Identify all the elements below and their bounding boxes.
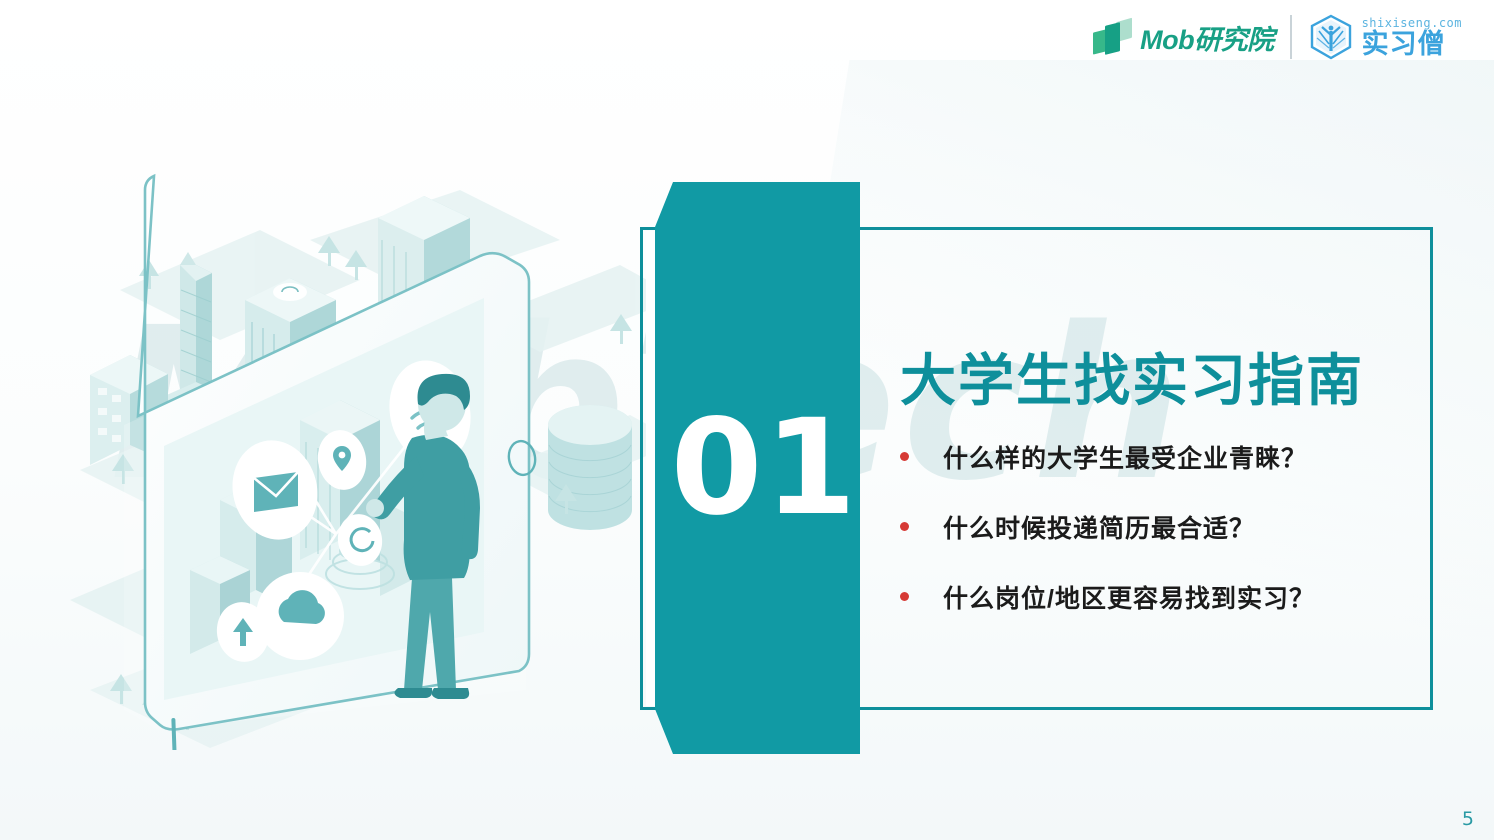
section-bullet-list: 什么样的大学生最受企业青睐？ 什么时候投递简历最合适？ 什么岗位/地区更容易找到… xyxy=(900,439,1440,615)
section-number: 01 xyxy=(655,182,860,754)
bullet-dot-icon xyxy=(900,452,909,461)
shixiseng-logo: shixiseng.com 实习僧 xyxy=(1308,14,1462,60)
shixiseng-domain: shixiseng.com xyxy=(1362,17,1462,29)
list-item: 什么样的大学生最受企业青睐？ xyxy=(900,439,1440,475)
shixiseng-shield-icon xyxy=(1308,14,1354,60)
slide-root: MobTech Mob研究院 sh xyxy=(0,0,1494,840)
bullet-dot-icon xyxy=(900,592,909,601)
header-logos: Mob研究院 shixiseng.com 实习僧 xyxy=(1092,8,1462,66)
isometric-smart-city-illustration xyxy=(60,170,680,750)
shixiseng-text-block: shixiseng.com 实习僧 xyxy=(1362,17,1462,58)
bullet-dot-icon xyxy=(900,522,909,531)
list-item: 什么岗位/地区更容易找到实习？ xyxy=(900,579,1440,615)
bullet-label: 什么样的大学生最受企业青睐？ xyxy=(943,439,1307,475)
page-number: 5 xyxy=(1462,808,1474,830)
mob-research-logo: Mob研究院 xyxy=(1092,18,1289,57)
logo-divider xyxy=(1290,15,1292,59)
section-title: 大学生找实习指南 xyxy=(900,350,1440,413)
mob-logo-icon xyxy=(1092,20,1134,54)
section-number-banner: 01 xyxy=(655,182,860,754)
bullet-label: 什么时候投递简历最合适？ xyxy=(943,509,1255,545)
section-text-column: 大学生找实习指南 什么样的大学生最受企业青睐？ 什么时候投递简历最合适？ 什么岗… xyxy=(900,350,1440,615)
shixiseng-label: 实习僧 xyxy=(1362,31,1462,58)
list-item: 什么时候投递简历最合适？ xyxy=(900,509,1440,545)
mob-logo-label: Mob研究院 xyxy=(1140,18,1273,57)
bullet-label: 什么岗位/地区更容易找到实习？ xyxy=(943,579,1315,615)
